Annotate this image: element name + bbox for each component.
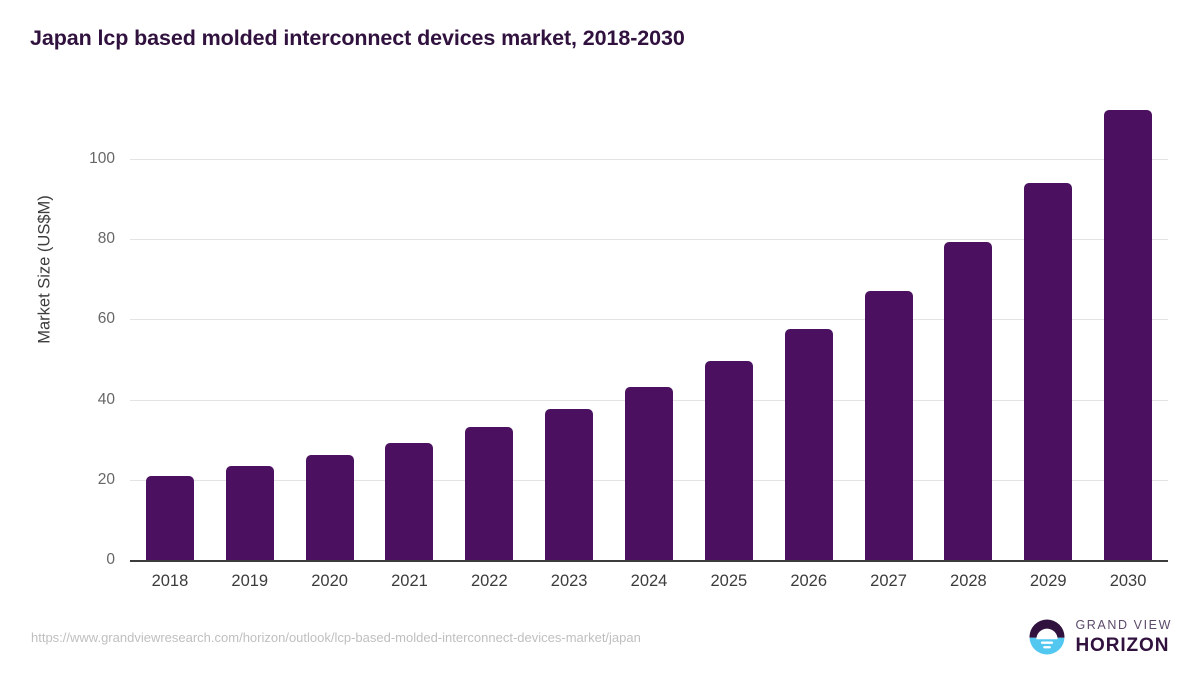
bar[interactable] [1024,183,1072,560]
y-tick-label: 100 [89,150,115,168]
bar[interactable] [625,387,673,560]
x-axis-line [130,560,1168,562]
x-tick-label: 2018 [152,572,189,591]
y-tick-label: 60 [98,310,115,328]
y-axis-ticks: 020406080100 [0,0,115,675]
y-axis-label: Market Size (US$M) [36,70,55,470]
x-tick-label: 2026 [790,572,827,591]
x-tick-label: 2022 [471,572,508,591]
bar[interactable] [385,443,433,560]
page-title: Japan lcp based molded interconnect devi… [30,26,685,51]
bar[interactable] [785,329,833,560]
bar[interactable] [226,466,274,560]
gridline [130,159,1168,160]
bar[interactable] [545,409,593,560]
logo-text: GRAND VIEW HORIZON [1075,619,1172,655]
x-tick-label: 2028 [950,572,987,591]
x-tick-label: 2023 [551,572,588,591]
y-tick-label: 20 [98,471,115,489]
x-tick-label: 2029 [1030,572,1067,591]
gridline [130,239,1168,240]
x-tick-label: 2020 [311,572,348,591]
logo-bottom-text: HORIZON [1075,636,1172,655]
gridline [130,319,1168,320]
x-tick-label: 2021 [391,572,428,591]
source-url: https://www.grandviewresearch.com/horizo… [31,630,641,645]
bar[interactable] [705,361,753,560]
y-tick-label: 80 [98,230,115,248]
plot-area [130,100,1168,560]
bar[interactable] [306,455,354,560]
x-tick-label: 2025 [710,572,747,591]
logo-top-text: GRAND VIEW [1075,619,1172,632]
y-tick-label: 0 [106,551,115,569]
x-tick-label: 2027 [870,572,907,591]
bar[interactable] [1104,110,1152,560]
x-tick-label: 2024 [631,572,668,591]
x-tick-label: 2030 [1110,572,1147,591]
bar[interactable] [465,427,513,560]
bar[interactable] [146,476,194,560]
x-tick-label: 2019 [231,572,268,591]
bar[interactable] [865,291,913,560]
bar[interactable] [944,242,992,560]
brand-logo: GRAND VIEW HORIZON [1028,618,1172,656]
y-tick-label: 40 [98,391,115,409]
grand-view-horizon-sun-icon [1028,618,1066,656]
chart-card: Japan lcp based molded interconnect devi… [0,0,1200,675]
